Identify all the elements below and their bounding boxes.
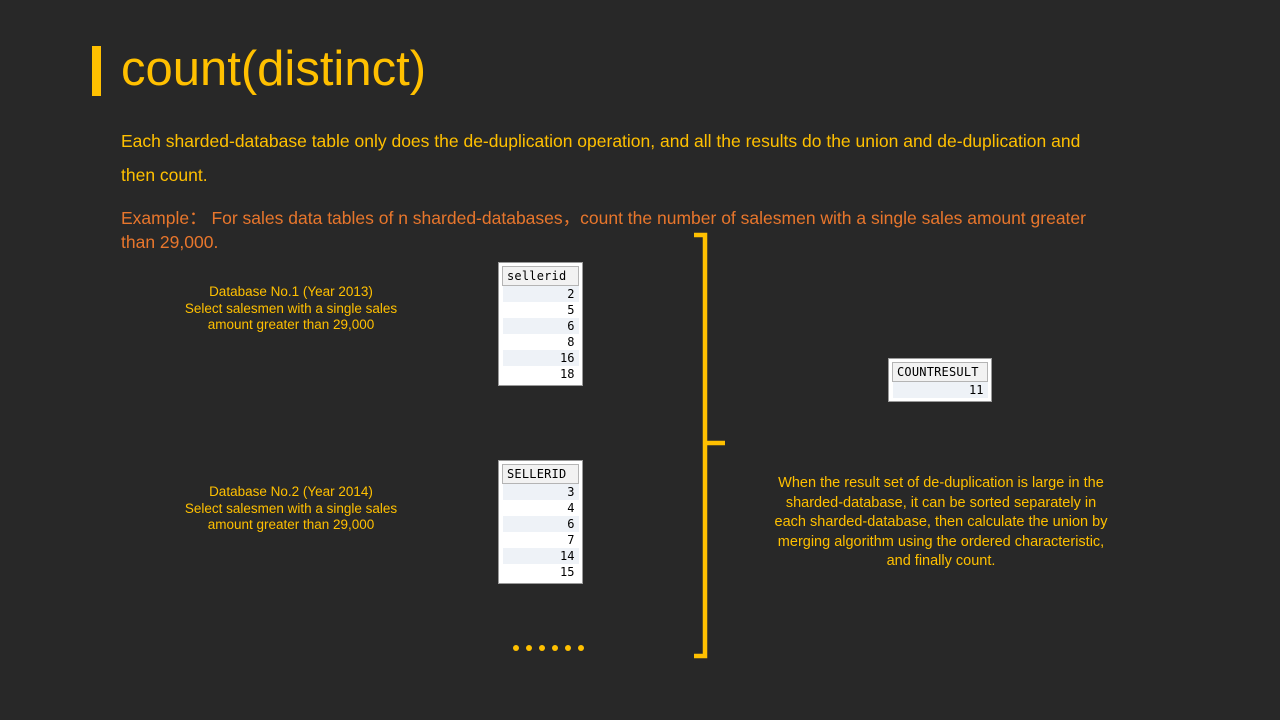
table-head: COUNTRESULT xyxy=(893,363,988,382)
table: COUNTRESULT 11 xyxy=(892,362,988,398)
column-header-sellerid: SELLERID xyxy=(503,465,579,484)
dot-icon xyxy=(513,645,519,651)
cell-sellerid: 18 xyxy=(503,366,579,382)
shard-line2-1: amount greater than 29,000 xyxy=(161,317,421,333)
cell-sellerid: 14 xyxy=(503,548,579,564)
bracket-icon xyxy=(680,228,740,663)
bracket-connector xyxy=(680,228,740,663)
cell-sellerid: 8 xyxy=(503,334,579,350)
column-header-sellerid: sellerid xyxy=(503,267,579,286)
table-row: 6 xyxy=(503,516,579,532)
ellipsis-dots xyxy=(513,645,584,651)
dot-icon xyxy=(578,645,584,651)
table-row: 6 xyxy=(503,318,579,334)
shard-line1-2: Select salesmen with a single sales xyxy=(161,501,421,517)
shard-result-table-1: sellerid 2 5 6 8 16 18 xyxy=(498,262,583,386)
shard-title-1: Database No.1 (Year 2013) xyxy=(161,284,421,300)
intro-paragraph: Each sharded-database table only does th… xyxy=(121,124,1111,192)
table: sellerid 2 5 6 8 16 18 xyxy=(502,266,579,382)
table-row: 7 xyxy=(503,532,579,548)
table-header-row: COUNTRESULT xyxy=(893,363,988,382)
table: SELLERID 3 4 6 7 14 15 xyxy=(502,464,579,580)
table-row: 14 xyxy=(503,548,579,564)
table-row: 15 xyxy=(503,564,579,580)
shard-line2-2: amount greater than 29,000 xyxy=(161,517,421,533)
table-row: 16 xyxy=(503,350,579,366)
table-body: 2 5 6 8 16 18 xyxy=(503,286,579,383)
cell-sellerid: 2 xyxy=(503,286,579,303)
shard-result-table-2: SELLERID 3 4 6 7 14 15 xyxy=(498,460,583,584)
cell-sellerid: 16 xyxy=(503,350,579,366)
table-row: 4 xyxy=(503,500,579,516)
table-header-row: SELLERID xyxy=(503,465,579,484)
table-row: 3 xyxy=(503,484,579,501)
count-result-table: COUNTRESULT 11 xyxy=(888,358,992,402)
table-body: 11 xyxy=(893,382,988,399)
table-row: 18 xyxy=(503,366,579,382)
dot-icon xyxy=(565,645,571,651)
title-accent-bar xyxy=(92,46,101,96)
page-title: count(distinct) xyxy=(121,45,426,94)
table-head: sellerid xyxy=(503,267,579,286)
cell-sellerid: 3 xyxy=(503,484,579,501)
result-note: When the result set of de-duplication is… xyxy=(772,474,1110,572)
shard-description-1: Database No.1 (Year 2013) Select salesme… xyxy=(161,284,421,333)
page-header: count(distinct) xyxy=(92,42,426,96)
table-row: 11 xyxy=(893,382,988,399)
shard-description-2: Database No.2 (Year 2014) Select salesme… xyxy=(161,484,421,533)
cell-sellerid: 6 xyxy=(503,516,579,532)
table-row: 5 xyxy=(503,302,579,318)
example-paragraph: Example： For sales data tables of n shar… xyxy=(121,206,1096,254)
dot-icon xyxy=(539,645,545,651)
shard-title-2: Database No.2 (Year 2014) xyxy=(161,484,421,500)
cell-countresult: 11 xyxy=(893,382,988,399)
cell-sellerid: 4 xyxy=(503,500,579,516)
table-row: 8 xyxy=(503,334,579,350)
column-header-countresult: COUNTRESULT xyxy=(893,363,988,382)
dot-icon xyxy=(526,645,532,651)
shard-line1-1: Select salesmen with a single sales xyxy=(161,301,421,317)
table-header-row: sellerid xyxy=(503,267,579,286)
cell-sellerid: 6 xyxy=(503,318,579,334)
cell-sellerid: 7 xyxy=(503,532,579,548)
table-body: 3 4 6 7 14 15 xyxy=(503,484,579,581)
cell-sellerid: 5 xyxy=(503,302,579,318)
table-row: 2 xyxy=(503,286,579,303)
cell-sellerid: 15 xyxy=(503,564,579,580)
dot-icon xyxy=(552,645,558,651)
table-head: SELLERID xyxy=(503,465,579,484)
